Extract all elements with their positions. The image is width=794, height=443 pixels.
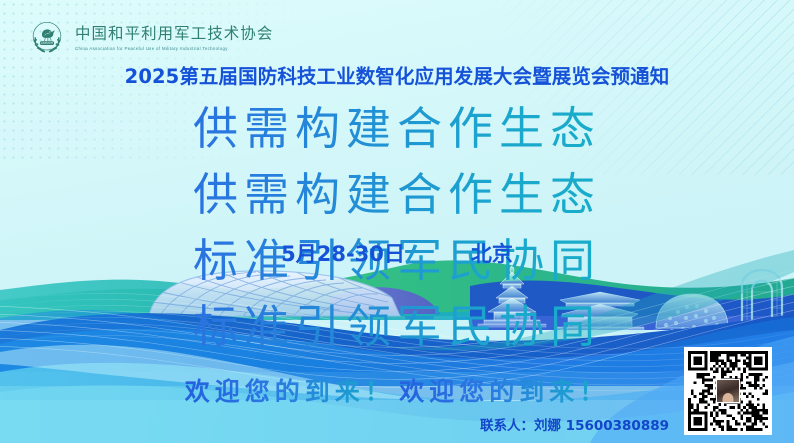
slogan-line-2-reflection: 标准引领军民协同 <box>0 294 794 360</box>
svg-text:中国和平利用军工技术协会: 中国和平利用军工技术协会 <box>75 24 273 42</box>
conference-poster: CAPUMIT 中国和平利用军工技术协会 China Association f… <box>0 0 794 443</box>
contact-name: 刘娜 <box>534 418 561 434</box>
event-meta: 5月28-30日 北京 <box>0 238 794 268</box>
svg-text:CAPUMIT: CAPUMIT <box>41 41 54 45</box>
association-logo: CAPUMIT 中国和平利用军工技术协会 China Association f… <box>26 16 293 58</box>
association-name-cn: 中国和平利用军工技术协会 <box>75 23 293 43</box>
contact-phone: 15600380889 <box>566 418 669 434</box>
conference-notice-title: 2025第五届国防科技工业数智化应用发展大会暨展览会预通知 <box>0 60 794 89</box>
contact-label: 联系人： <box>480 418 534 434</box>
slogan-block: 供需构建合作生态 供需构建合作生态 标准引领军民协同 标准引领军民协同 <box>0 96 794 360</box>
welcome-text: 欢迎您的到来！ <box>185 372 395 408</box>
slogan-line-1: 供需构建合作生态 <box>0 96 794 162</box>
contact-line: 联系人：刘娜 15600380889 <box>480 414 669 434</box>
event-city: 北京 <box>471 238 513 268</box>
capumit-dove-emblem-icon: CAPUMIT <box>26 16 68 58</box>
welcome-block: 欢迎您的到来！ 欢迎您的到来！ <box>0 372 794 408</box>
event-date: 5月28-30日 <box>281 238 405 268</box>
association-name-en: China Association for Peaceful Use of Mi… <box>75 46 293 51</box>
welcome-text-reflection: 欢迎您的到来！ <box>399 372 609 408</box>
wechat-qr-code[interactable] <box>684 347 772 435</box>
qr-center-avatar <box>716 379 740 403</box>
slogan-line-1-reflection: 供需构建合作生态 <box>0 162 794 228</box>
